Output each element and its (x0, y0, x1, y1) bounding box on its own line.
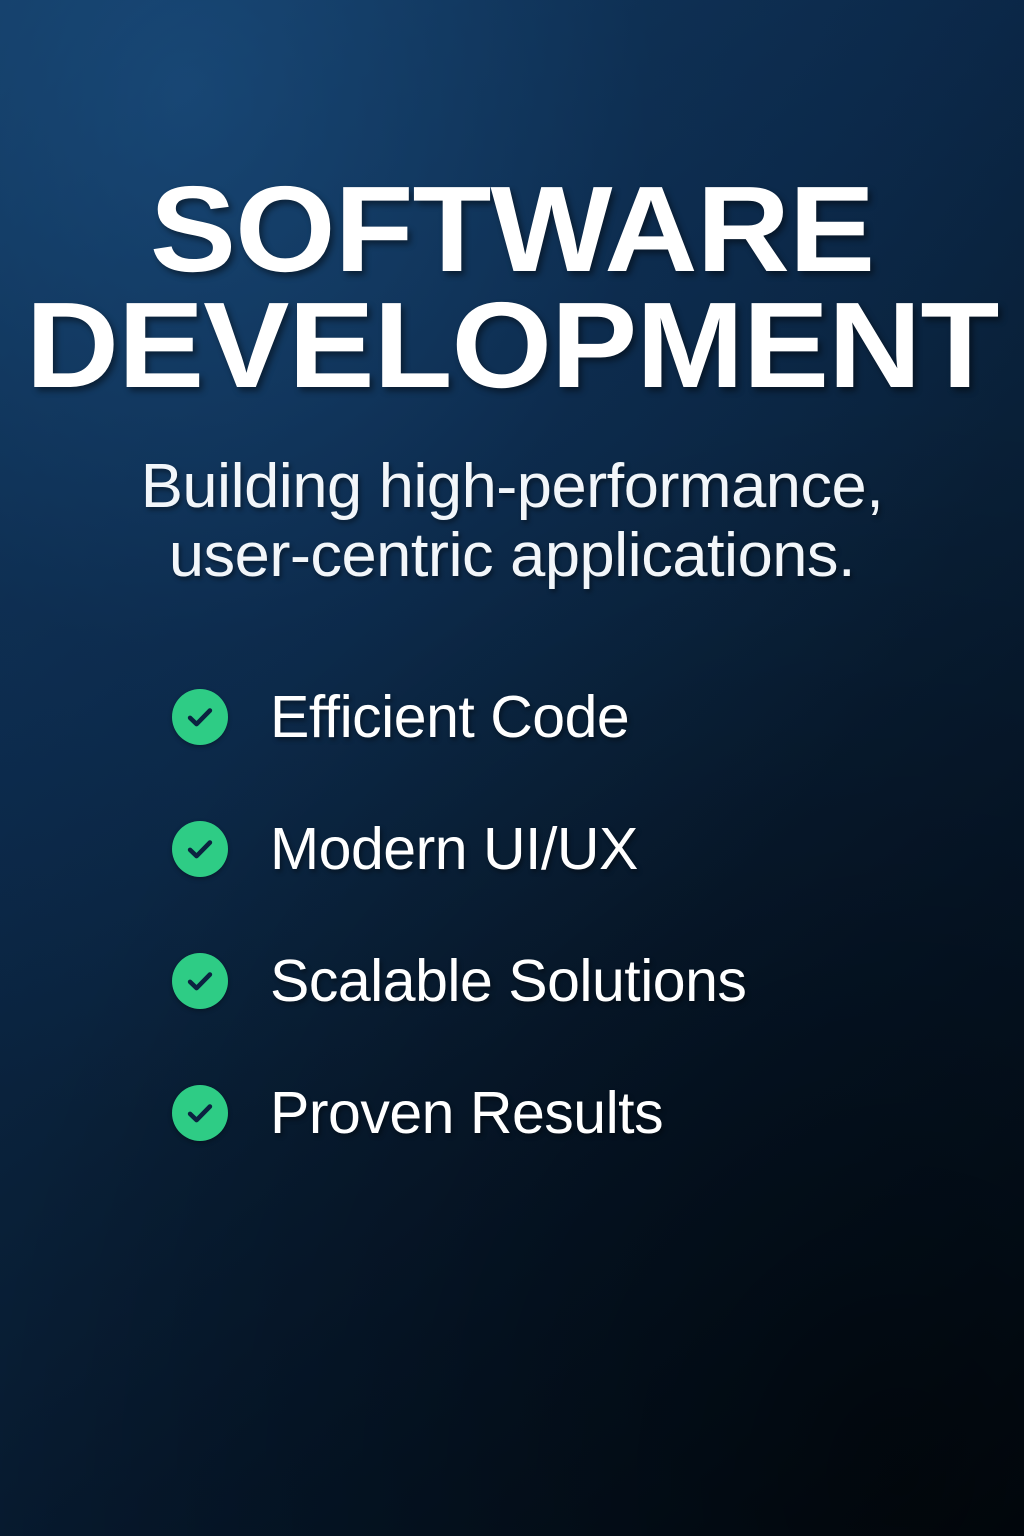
feature-label: Modern UI/UX (270, 820, 638, 879)
list-item: Proven Results (172, 1084, 952, 1142)
page-subtitle: Building high-performance, user-centric … (0, 452, 1024, 591)
check-circle-icon (172, 953, 228, 1009)
feature-label: Proven Results (270, 1084, 663, 1143)
poster-content: SOFTWARE DEVELOPMENT Building high-perfo… (0, 0, 1024, 1536)
check-circle-icon (172, 1085, 228, 1141)
check-circle-icon (172, 821, 228, 877)
page-title: SOFTWARE DEVELOPMENT (0, 172, 1024, 404)
list-item: Modern UI/UX (172, 820, 952, 878)
feature-label: Efficient Code (270, 688, 629, 747)
list-item: Scalable Solutions (172, 952, 952, 1010)
feature-list: Efficient Code Modern UI/UX Scalable Sol… (172, 688, 952, 1142)
promo-poster: SOFTWARE DEVELOPMENT Building high-perfo… (0, 0, 1024, 1536)
list-item: Efficient Code (172, 688, 952, 746)
feature-label: Scalable Solutions (270, 952, 746, 1011)
check-circle-icon (172, 689, 228, 745)
